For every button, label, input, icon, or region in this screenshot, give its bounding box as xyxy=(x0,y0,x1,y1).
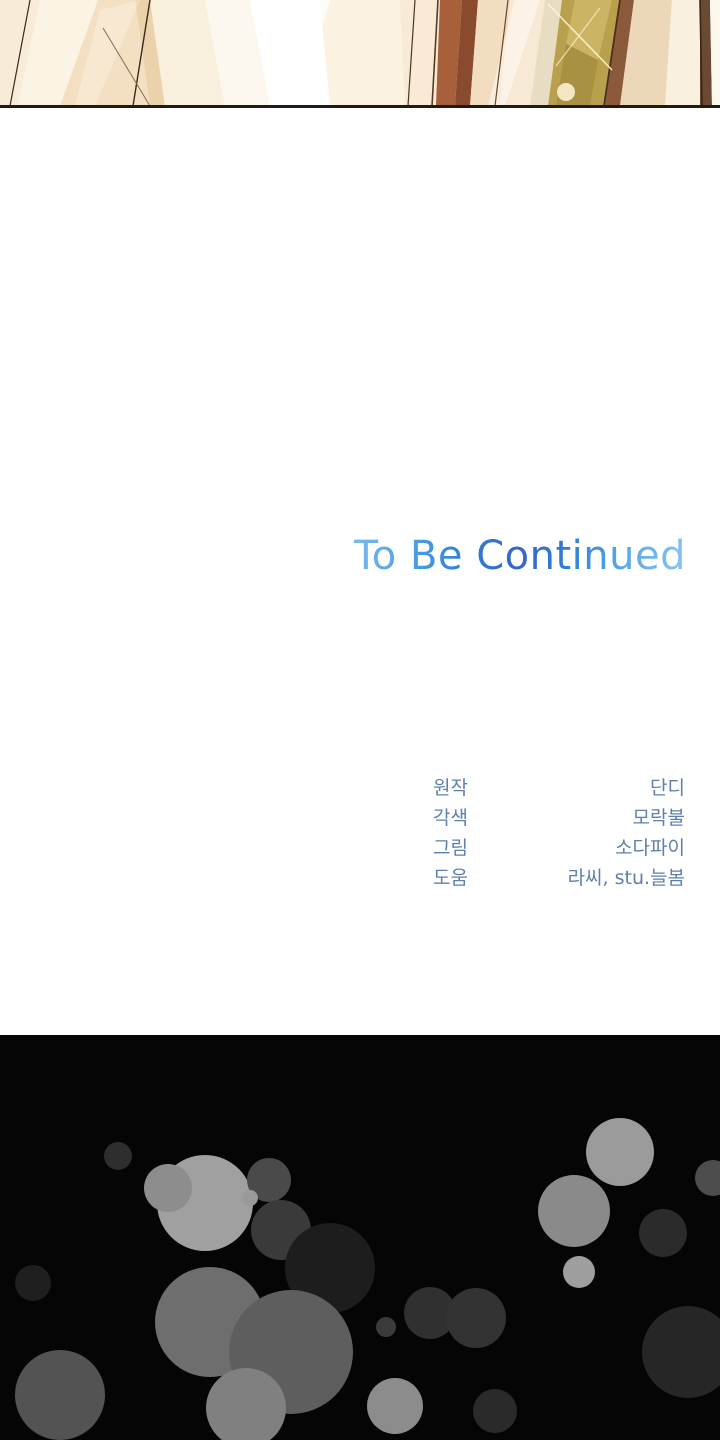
bokeh-circle-20 xyxy=(695,1160,720,1196)
to-be-continued-block: To Be Continued xyxy=(0,533,686,579)
credit-person-name: 라씨, stu.늘봄 xyxy=(568,863,685,893)
bokeh-circles-layer xyxy=(0,1035,720,1440)
bokeh-circle-11 xyxy=(376,1317,396,1337)
white-content-area: To Be Continued 원작 단디 각색 모락불 그림 소다파이 도움 … xyxy=(0,108,720,1035)
credit-row: 각색 모락불 xyxy=(433,803,685,833)
credit-row: 원작 단디 xyxy=(433,773,685,803)
credit-role-label: 원작 xyxy=(433,773,468,803)
credit-role-label: 그림 xyxy=(433,833,468,863)
bokeh-circle-22 xyxy=(15,1265,51,1301)
bokeh-circle-18 xyxy=(639,1209,687,1257)
bokeh-circle-4 xyxy=(242,1190,258,1206)
credit-role-label: 도움 xyxy=(433,863,468,893)
credit-role-label: 각색 xyxy=(433,803,468,833)
bokeh-circle-10 xyxy=(15,1350,105,1440)
bokeh-circle-13 xyxy=(446,1288,506,1348)
bokeh-circle-15 xyxy=(586,1118,654,1186)
bokeh-circle-16 xyxy=(538,1175,610,1247)
credits-list: 원작 단디 각색 모락불 그림 소다파이 도움 라씨, stu.늘봄 xyxy=(433,773,685,893)
webtoon-end-page: To Be Continued 원작 단디 각색 모락불 그림 소다파이 도움 … xyxy=(0,0,720,1440)
bokeh-circle-17 xyxy=(563,1256,595,1288)
comic-panel-fragment xyxy=(0,0,720,108)
credit-row: 도움 라씨, stu.늘봄 xyxy=(433,863,685,893)
bokeh-circle-19 xyxy=(642,1306,720,1398)
to-be-continued-text: To Be Continued xyxy=(354,533,686,579)
artwork-vector xyxy=(0,0,720,106)
credit-row: 그림 소다파이 xyxy=(433,833,685,863)
bokeh-circle-14 xyxy=(473,1389,517,1433)
bokeh-circle-9 xyxy=(367,1378,423,1434)
credit-person-name: 단디 xyxy=(650,773,685,803)
bokeh-circle-21 xyxy=(104,1142,132,1170)
bokeh-circle-1 xyxy=(144,1164,192,1212)
credit-person-name: 소다파이 xyxy=(615,833,685,863)
promo-banner: teenmanhua.com We need your support! Ple… xyxy=(0,1035,720,1440)
credit-person-name: 모락불 xyxy=(633,803,685,833)
